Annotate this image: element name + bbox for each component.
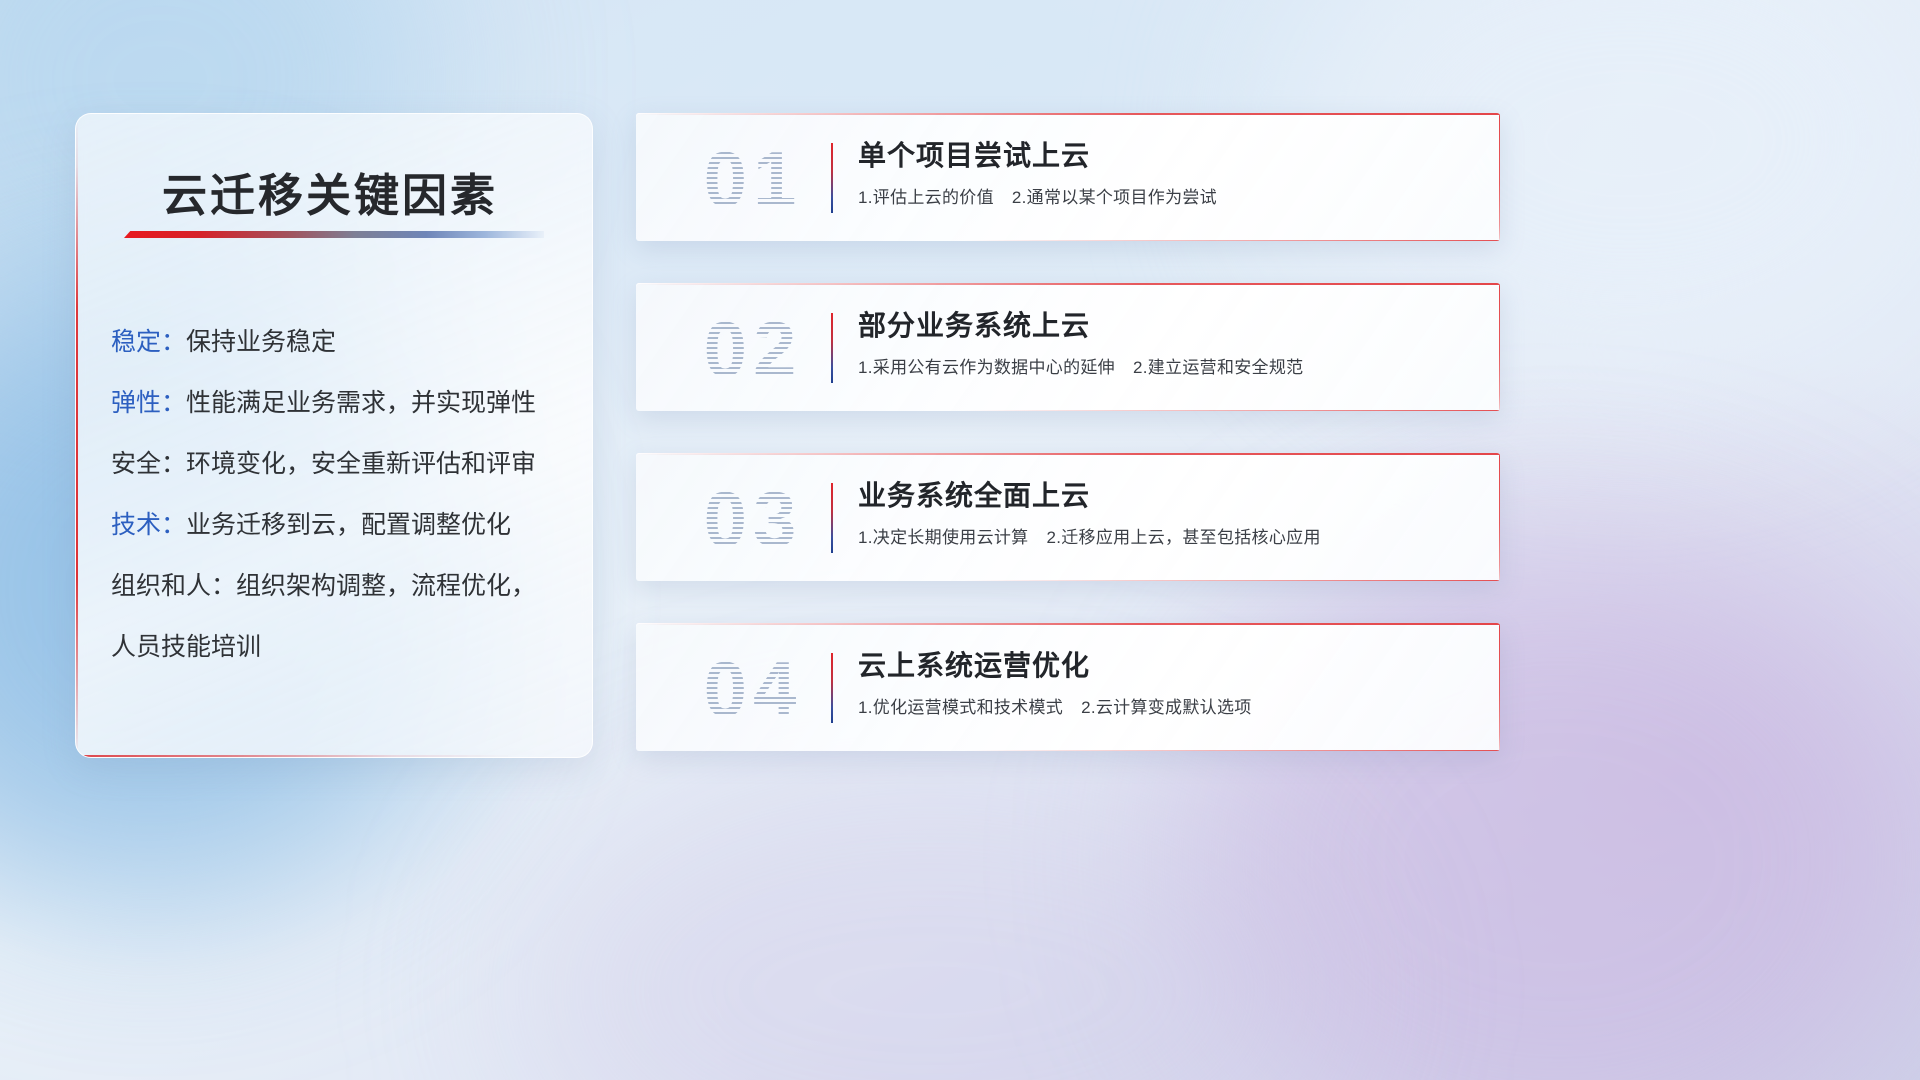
factor-label: 弹性： — [111, 389, 186, 417]
step-number: 01 — [658, 127, 848, 231]
step-point: 1.优化运营模式和技术模式 — [858, 698, 1063, 717]
card-bottom-accent — [964, 750, 1500, 752]
card-bottom-accent — [964, 240, 1500, 242]
factor-label: 组织和人： — [111, 572, 236, 600]
migration-steps-list: 01 单个项目尝试上云 1.评估上云的价值2.通常以某个项目作为尝试 02 部分… — [636, 113, 1500, 793]
step-card[interactable]: 01 单个项目尝试上云 1.评估上云的价值2.通常以某个项目作为尝试 — [636, 113, 1500, 241]
card-top-accent — [636, 283, 1500, 285]
step-title: 云上系统运营优化 — [858, 645, 1480, 687]
step-card[interactable]: 03 业务系统全面上云 1.决定长期使用云计算2.迁移应用上云，甚至包括核心应用 — [636, 453, 1500, 581]
step-point: 2.建立运营和安全规范 — [1133, 358, 1303, 377]
card-right-accent — [1499, 283, 1501, 411]
step-number: 03 — [658, 467, 848, 571]
step-description: 1.优化运营模式和技术模式2.云计算变成默认选项 — [858, 695, 1480, 721]
card-top-accent — [636, 623, 1500, 625]
step-description: 1.决定长期使用云计算2.迁移应用上云，甚至包括核心应用 — [858, 525, 1480, 551]
step-point: 2.云计算变成默认选项 — [1081, 698, 1251, 717]
step-point: 1.采用公有云作为数据中心的延伸 — [858, 358, 1115, 377]
factor-value: 保持业务稳定 — [186, 328, 336, 356]
card-top-accent — [636, 453, 1500, 455]
card-right-accent — [1499, 623, 1501, 751]
factor-list: 稳定：保持业务稳定 弹性：性能满足业务需求，并实现弹性 安全：环境变化，安全重新… — [111, 312, 570, 678]
step-point: 1.评估上云的价值 — [858, 188, 994, 207]
step-divider — [831, 143, 833, 213]
factor-item: 技术：业务迁移到云，配置调整优化 — [111, 495, 570, 556]
step-description: 1.评估上云的价值2.通常以某个项目作为尝试 — [858, 185, 1480, 211]
panel-bottom-accent-bar — [76, 755, 592, 757]
factor-value: 业务迁移到云，配置调整优化 — [186, 511, 511, 539]
step-card[interactable]: 04 云上系统运营优化 1.优化运营模式和技术模式2.云计算变成默认选项 — [636, 623, 1500, 751]
factor-item: 稳定：保持业务稳定 — [111, 312, 570, 373]
step-number: 02 — [658, 297, 848, 401]
panel-title: 云迁移关键因素 — [162, 159, 498, 224]
card-right-accent — [1499, 453, 1501, 581]
factor-item: 安全：环境变化，安全重新评估和评审 — [111, 434, 570, 495]
step-point: 2.迁移应用上云，甚至包括核心应用 — [1046, 528, 1320, 547]
panel-left-accent-bar — [76, 114, 78, 757]
step-title: 部分业务系统上云 — [858, 305, 1480, 347]
step-number: 04 — [658, 637, 848, 741]
panel-title-underline — [124, 231, 544, 238]
factor-value: 环境变化，安全重新评估和评审 — [186, 450, 536, 478]
card-top-accent — [636, 113, 1500, 115]
step-point: 1.决定长期使用云计算 — [858, 528, 1028, 547]
card-bottom-accent — [964, 580, 1500, 582]
factor-value: 组织架构调整，流程优化， — [236, 572, 536, 600]
factor-value: 人员技能培训 — [111, 633, 261, 661]
factor-item-continuation: 人员技能培训 — [111, 617, 570, 678]
step-body: 云上系统运营优化 1.优化运营模式和技术模式2.云计算变成默认选项 — [858, 645, 1480, 721]
step-divider — [831, 483, 833, 553]
factor-label: 技术： — [111, 511, 186, 539]
key-factors-panel: 云迁移关键因素 稳定：保持业务稳定 弹性：性能满足业务需求，并实现弹性 安全：环… — [75, 113, 593, 758]
card-right-accent — [1499, 113, 1501, 241]
factor-value: 性能满足业务需求，并实现弹性 — [186, 389, 536, 417]
step-point: 2.通常以某个项目作为尝试 — [1012, 188, 1217, 207]
card-bottom-accent — [964, 410, 1500, 412]
step-title: 业务系统全面上云 — [858, 475, 1480, 517]
step-body: 部分业务系统上云 1.采用公有云作为数据中心的延伸2.建立运营和安全规范 — [858, 305, 1480, 381]
factor-item: 组织和人：组织架构调整，流程优化， — [111, 556, 570, 617]
step-body: 业务系统全面上云 1.决定长期使用云计算2.迁移应用上云，甚至包括核心应用 — [858, 475, 1480, 551]
factor-item: 弹性：性能满足业务需求，并实现弹性 — [111, 373, 570, 434]
step-divider — [831, 653, 833, 723]
step-description: 1.采用公有云作为数据中心的延伸2.建立运营和安全规范 — [858, 355, 1480, 381]
step-card[interactable]: 02 部分业务系统上云 1.采用公有云作为数据中心的延伸2.建立运营和安全规范 — [636, 283, 1500, 411]
step-divider — [831, 313, 833, 383]
factor-label: 稳定： — [111, 328, 186, 356]
background-blob-bottom — [520, 760, 1340, 1080]
factor-label: 安全： — [111, 450, 186, 478]
step-body: 单个项目尝试上云 1.评估上云的价值2.通常以某个项目作为尝试 — [858, 135, 1480, 211]
slide-canvas: 云迁移关键因素 稳定：保持业务稳定 弹性：性能满足业务需求，并实现弹性 安全：环… — [0, 0, 1920, 1080]
step-title: 单个项目尝试上云 — [858, 135, 1480, 177]
